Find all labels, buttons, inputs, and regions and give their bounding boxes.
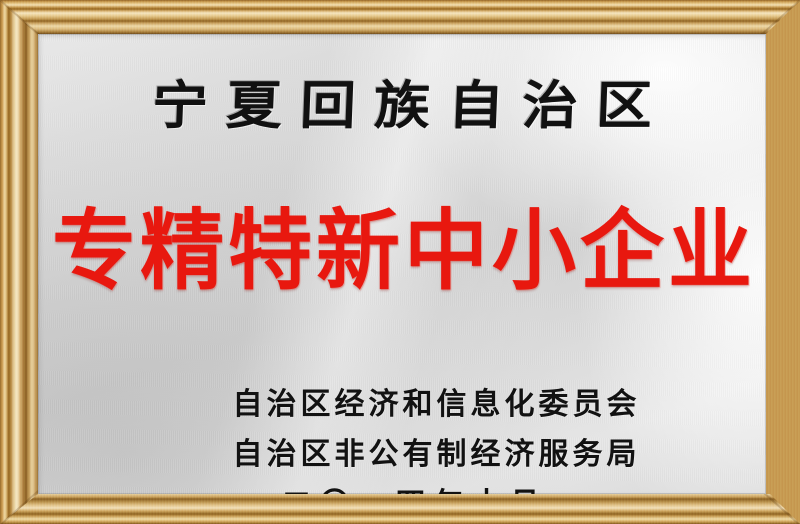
issuer-line-1: 自治区经济和信息化委员会 <box>222 390 596 420</box>
frame-mitre-top-right <box>760 0 800 36</box>
region-heading: 宁夏回族自治区 <box>38 80 766 132</box>
frame-mitre-top-left <box>0 0 40 36</box>
issue-date: 二〇一四年十月 <box>222 490 596 494</box>
award-plaque: 宁夏回族自治区 专精特新中小企业 自治区经济和信息化委员会 自治区非公有制经济服… <box>0 0 800 524</box>
frame-bottom-edge <box>0 494 800 524</box>
award-title: 专精特新中小企业 <box>38 207 766 294</box>
issuer-line-2: 自治区非公有制经济服务局 <box>222 440 596 470</box>
frame-left-edge <box>0 0 38 524</box>
plaque-content: 宁夏回族自治区 专精特新中小企业 自治区经济和信息化委员会 自治区非公有制经济服… <box>38 34 766 494</box>
frame-mitre-bottom-left <box>0 488 40 524</box>
frame-top-edge <box>0 0 800 34</box>
frame-right-edge <box>766 0 800 524</box>
metal-plate: 宁夏回族自治区 专精特新中小企业 自治区经济和信息化委员会 自治区非公有制经济服… <box>38 34 766 494</box>
